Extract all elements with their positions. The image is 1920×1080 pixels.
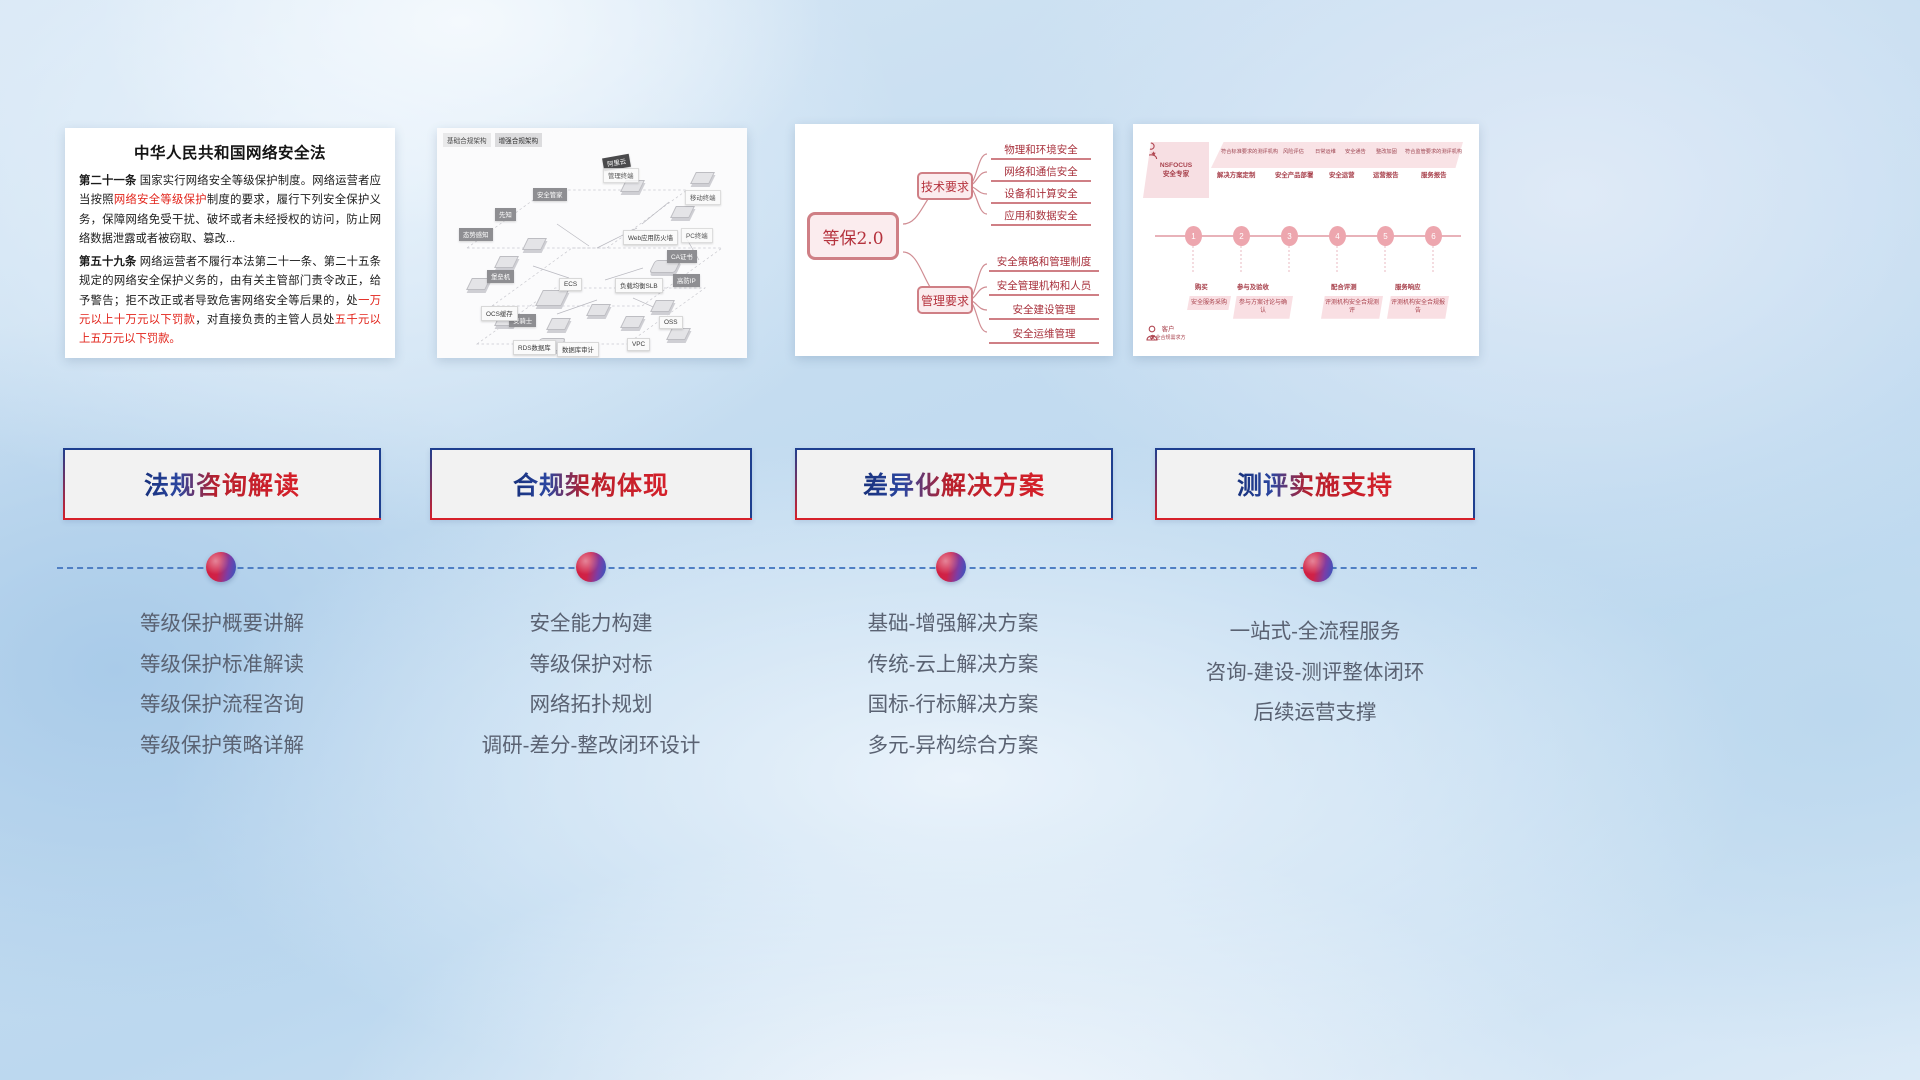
list-item: 等级保护对标 bbox=[428, 645, 754, 686]
list-item: 调研-差分-整改闭环设计 bbox=[428, 726, 754, 767]
architecture-tabs: 基础合规架构 增强合规架构 bbox=[443, 133, 542, 147]
section-heading-label: 合规架构体现 bbox=[513, 466, 669, 502]
list-item: 后续运营支撑 bbox=[1152, 693, 1478, 734]
section-heading-regulation-consulting[interactable]: 法规咨询解读 bbox=[63, 448, 381, 520]
list-item: 安全能力构建 bbox=[428, 604, 754, 645]
list-item: 一站式-全流程服务 bbox=[1152, 612, 1478, 653]
timeline-dot-1 bbox=[206, 552, 236, 582]
list-item: 传统-云上解决方案 bbox=[790, 645, 1116, 686]
section-heading-label: 测评实施支持 bbox=[1237, 466, 1393, 502]
list-item: 等级保护概要讲解 bbox=[62, 604, 382, 645]
list-item: 基础-增强解决方案 bbox=[790, 604, 1116, 645]
list-item: 网络拓扑规划 bbox=[428, 685, 754, 726]
list-item: 等级保护标准解读 bbox=[62, 645, 382, 686]
section-heading-differentiated-solution[interactable]: 差异化解决方案 bbox=[795, 448, 1113, 520]
timeline-dashed-line bbox=[57, 567, 1477, 569]
timeline-dot-4 bbox=[1303, 552, 1333, 582]
tab-basic-architecture[interactable]: 基础合规架构 bbox=[443, 133, 491, 147]
timeline-dot-3 bbox=[936, 552, 966, 582]
list-item: 多元-异构综合方案 bbox=[790, 726, 1116, 767]
list-item: 等级保护流程咨询 bbox=[62, 685, 382, 726]
list-item: 国标-行标解决方案 bbox=[790, 685, 1116, 726]
section-heading-assessment-support[interactable]: 测评实施支持 bbox=[1155, 448, 1475, 520]
section-list-differentiated-solution: 基础-增强解决方案 传统-云上解决方案 国标-行标解决方案 多元-异构综合方案 bbox=[790, 604, 1116, 766]
section-heading-label: 差异化解决方案 bbox=[863, 466, 1045, 502]
timeline-dot-2 bbox=[576, 552, 606, 582]
section-heading-compliance-architecture[interactable]: 合规架构体现 bbox=[430, 448, 752, 520]
section-heading-label: 法规咨询解读 bbox=[144, 466, 300, 502]
section-list-regulation-consulting: 等级保护概要讲解 等级保护标准解读 等级保护流程咨询 等级保护策略详解 bbox=[62, 604, 382, 766]
list-item: 咨询-建设-测评整体闭环 bbox=[1152, 653, 1478, 694]
section-list-compliance-architecture: 安全能力构建 等级保护对标 网络拓扑规划 调研-差分-整改闭环设计 bbox=[428, 604, 754, 766]
section-list-assessment-support: 一站式-全流程服务 咨询-建设-测评整体闭环 后续运营支撑 bbox=[1152, 612, 1478, 734]
list-item: 等级保护策略详解 bbox=[62, 726, 382, 767]
section-headings-row: 法规咨询解读 合规架构体现 差异化解决方案 测评实施支持 等级保护概要讲解 等级… bbox=[0, 0, 1920, 1080]
tab-enhanced-architecture[interactable]: 增强合规架构 bbox=[495, 133, 543, 147]
